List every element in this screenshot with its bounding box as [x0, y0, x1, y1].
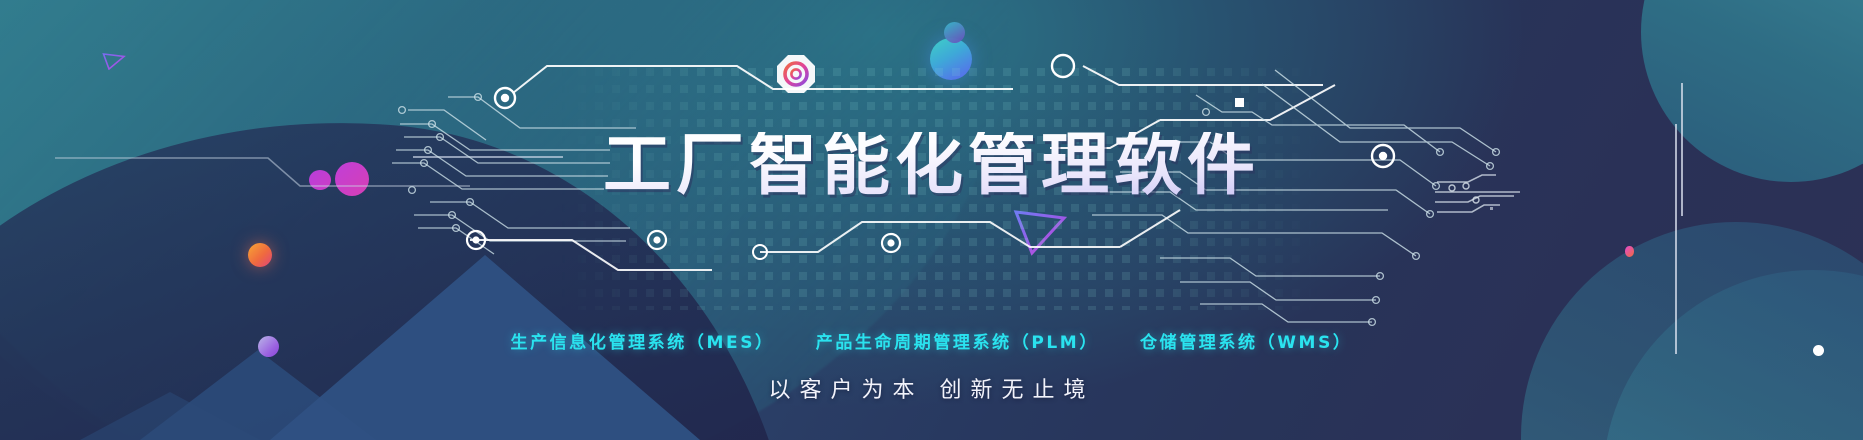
square-node — [1235, 98, 1244, 107]
aperture-target-icon — [777, 55, 815, 93]
product-systems-list: 生产信息化管理系统（MES） 产品生命周期管理系统（PLM） 仓储管理系统（WM… — [0, 328, 1863, 353]
circuit-node-left — [495, 88, 515, 108]
system-item-wms: 仓储管理系统（WMS） — [1140, 328, 1353, 353]
system-item-mes: 生产信息化管理系统（MES） — [510, 328, 774, 353]
hero-banner: 工厂智能化管理软件 生产信息化管理系统（MES） 产品生命周期管理系统（PLM）… — [0, 0, 1863, 440]
system-item-plm: 产品生命周期管理系统（PLM） — [816, 328, 1099, 353]
tagline: 以客户为本 创新无止境 — [0, 372, 1863, 404]
page-title: 工厂智能化管理软件 — [0, 132, 1863, 200]
